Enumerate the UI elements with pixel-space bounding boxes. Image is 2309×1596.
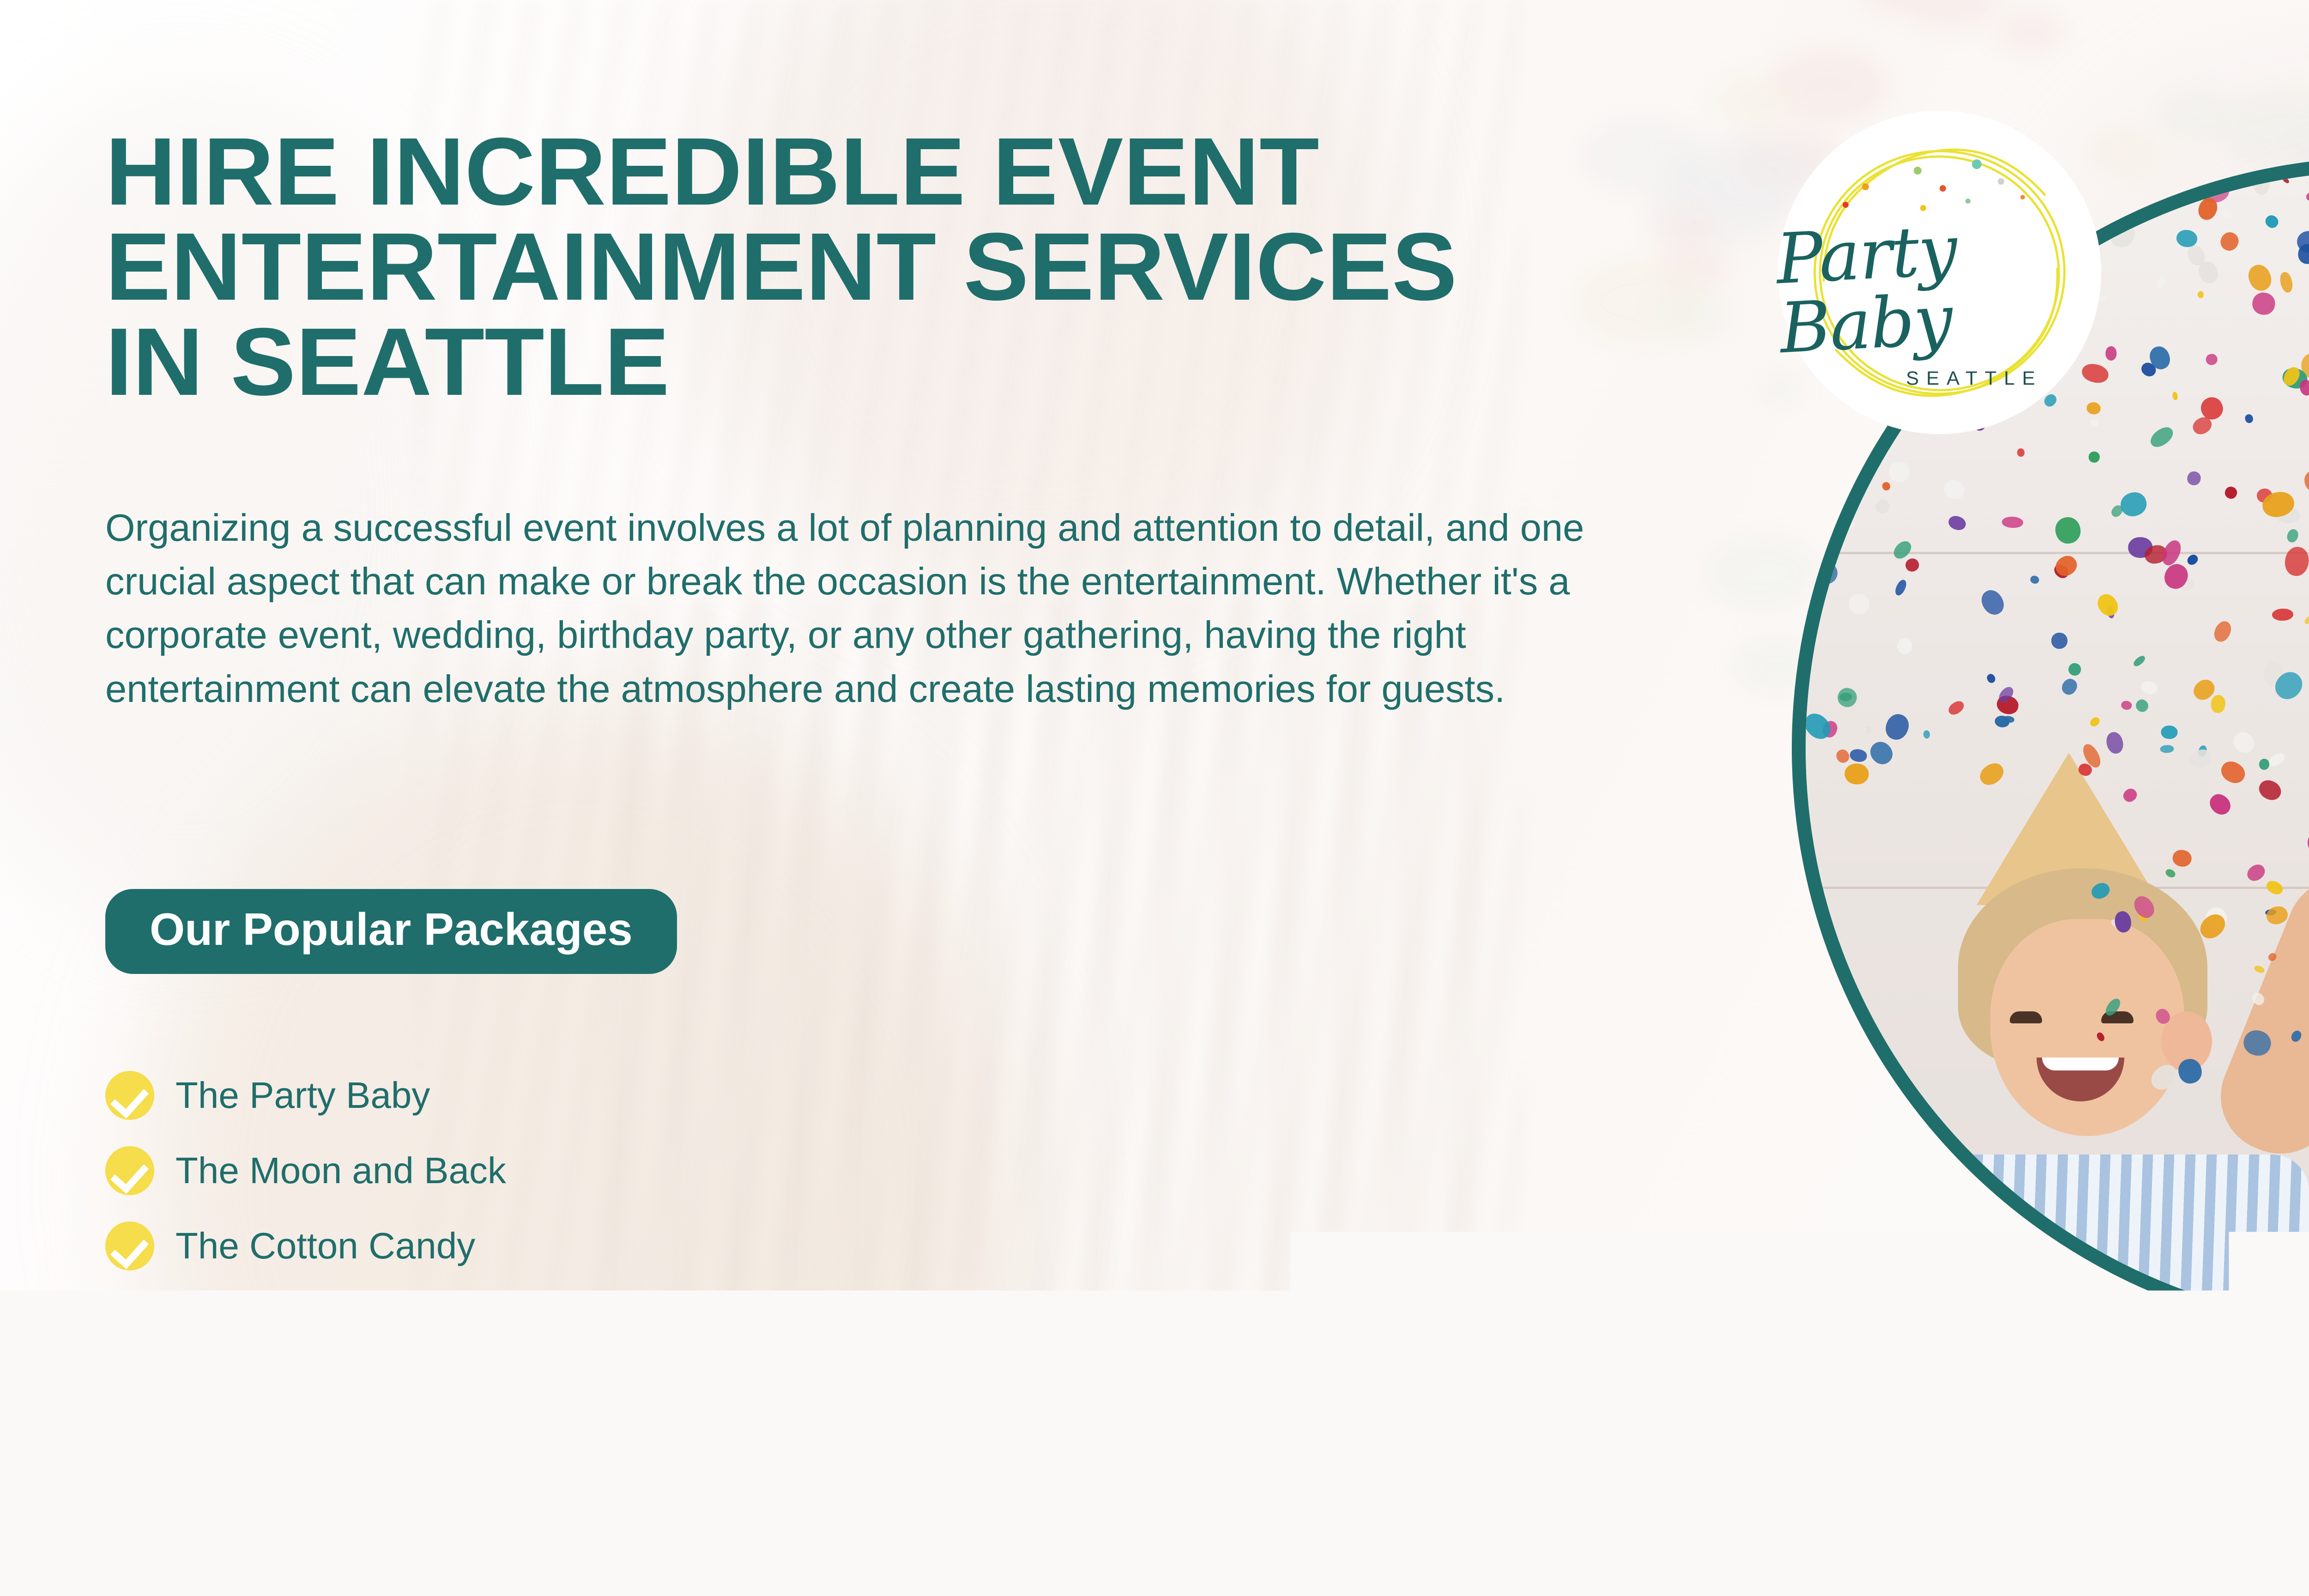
logo-wordmark: Party Baby <box>1775 208 2105 363</box>
brand-logo: Party Baby SEATTLE <box>1778 111 2101 434</box>
logo-inner: Party Baby SEATTLE <box>1778 111 2101 434</box>
logo-subtitle: SEATTLE <box>1906 367 2043 389</box>
right-media-column: Party Baby SEATTLE INCLUDES 2 ATTENDANTS… <box>0 0 2309 1596</box>
